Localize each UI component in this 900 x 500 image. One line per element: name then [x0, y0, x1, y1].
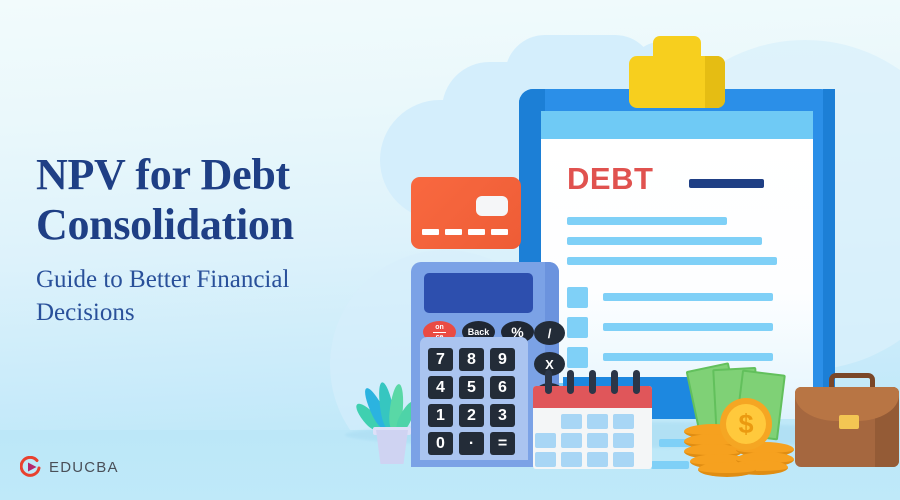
calendar-ring — [545, 370, 552, 394]
briefcase-lock — [839, 415, 859, 429]
page-subtitle-line-2: Decisions — [36, 299, 135, 326]
calculator-key-4: 4 — [428, 376, 453, 399]
calculator-key-equals: = — [490, 432, 515, 455]
paper-checkbox — [567, 287, 588, 308]
calculator-divide-button: / — [534, 321, 565, 345]
calculator-on-label: on — [433, 324, 446, 331]
educba-logo-text: EDUCBA — [49, 459, 119, 476]
credit-card-dash — [422, 229, 439, 235]
paper-checkbox-line — [603, 323, 773, 331]
calculator-key-3: 3 — [490, 404, 515, 427]
calculator-key-decimal: · — [459, 432, 484, 455]
calendar-ring — [633, 370, 640, 394]
calendar-cell — [561, 414, 582, 429]
calendar-cell — [613, 433, 634, 448]
page-title: NPV for Debt Consolidation — [36, 150, 396, 250]
calendar-cell — [561, 433, 582, 448]
calculator-key-1: 1 — [428, 404, 453, 427]
calendar-cell — [613, 414, 634, 429]
paper-text-line — [567, 257, 777, 265]
calendar-cell — [587, 414, 608, 429]
headline-block: NPV for Debt Consolidation Guide to Bett… — [36, 150, 396, 329]
page-title-line-2: Consolidation — [36, 200, 294, 249]
page-title-line-1: NPV for Debt — [36, 150, 290, 199]
page-subtitle-line-1: Guide to Better Financial — [36, 266, 289, 293]
calculator-key-5: 5 — [459, 376, 484, 399]
calendar-cell — [587, 433, 608, 448]
calculator-display — [424, 273, 533, 313]
paper-text-line — [567, 237, 762, 245]
paper-checkbox — [567, 317, 588, 338]
page-subtitle: Guide to Better Financial Decisions — [36, 264, 396, 329]
banner-illustration: DEBT — [0, 0, 900, 500]
credit-card-chip — [476, 196, 508, 216]
calendar-cell — [561, 452, 582, 467]
calculator-key-6: 6 — [490, 376, 515, 399]
clipboard-heading: DEBT — [567, 161, 653, 197]
credit-card-dash — [468, 229, 485, 235]
dollar-coin: $ — [720, 398, 772, 450]
calculator-key-8: 8 — [459, 348, 484, 371]
credit-card-dash — [445, 229, 462, 235]
paper-text-line — [567, 217, 727, 225]
paper-checkbox — [567, 347, 588, 368]
clipboard-clip-shadow — [705, 56, 725, 108]
clipboard-clip — [629, 56, 725, 108]
clipboard-frame-right-edge — [823, 89, 835, 419]
dollar-coin-symbol: $ — [726, 404, 766, 444]
calendar-cell — [535, 452, 556, 467]
calculator-key-7: 7 — [428, 348, 453, 371]
money-and-coins: $ — [684, 366, 804, 471]
educba-logo[interactable]: EDUCBA — [20, 456, 119, 478]
calendar — [533, 370, 652, 469]
plant-pot — [376, 430, 408, 464]
credit-card — [411, 177, 521, 249]
clipboard-heading-rule — [689, 179, 764, 188]
calculator-key-9: 9 — [490, 348, 515, 371]
briefcase — [795, 373, 899, 467]
calculator-key-0: 0 — [428, 432, 453, 455]
paper-checkbox-line — [603, 293, 773, 301]
calendar-ring — [611, 370, 618, 394]
paper-checkbox-line — [603, 353, 773, 361]
calendar-cell — [587, 452, 608, 467]
educba-mark-icon — [20, 456, 42, 478]
calendar-ring — [567, 370, 574, 394]
calendar-ring — [589, 370, 596, 394]
calculator-key-2: 2 — [459, 404, 484, 427]
calendar-cell — [535, 433, 556, 448]
calendar-cell — [613, 452, 634, 467]
coin-stack — [698, 462, 756, 477]
credit-card-dash — [491, 229, 508, 235]
